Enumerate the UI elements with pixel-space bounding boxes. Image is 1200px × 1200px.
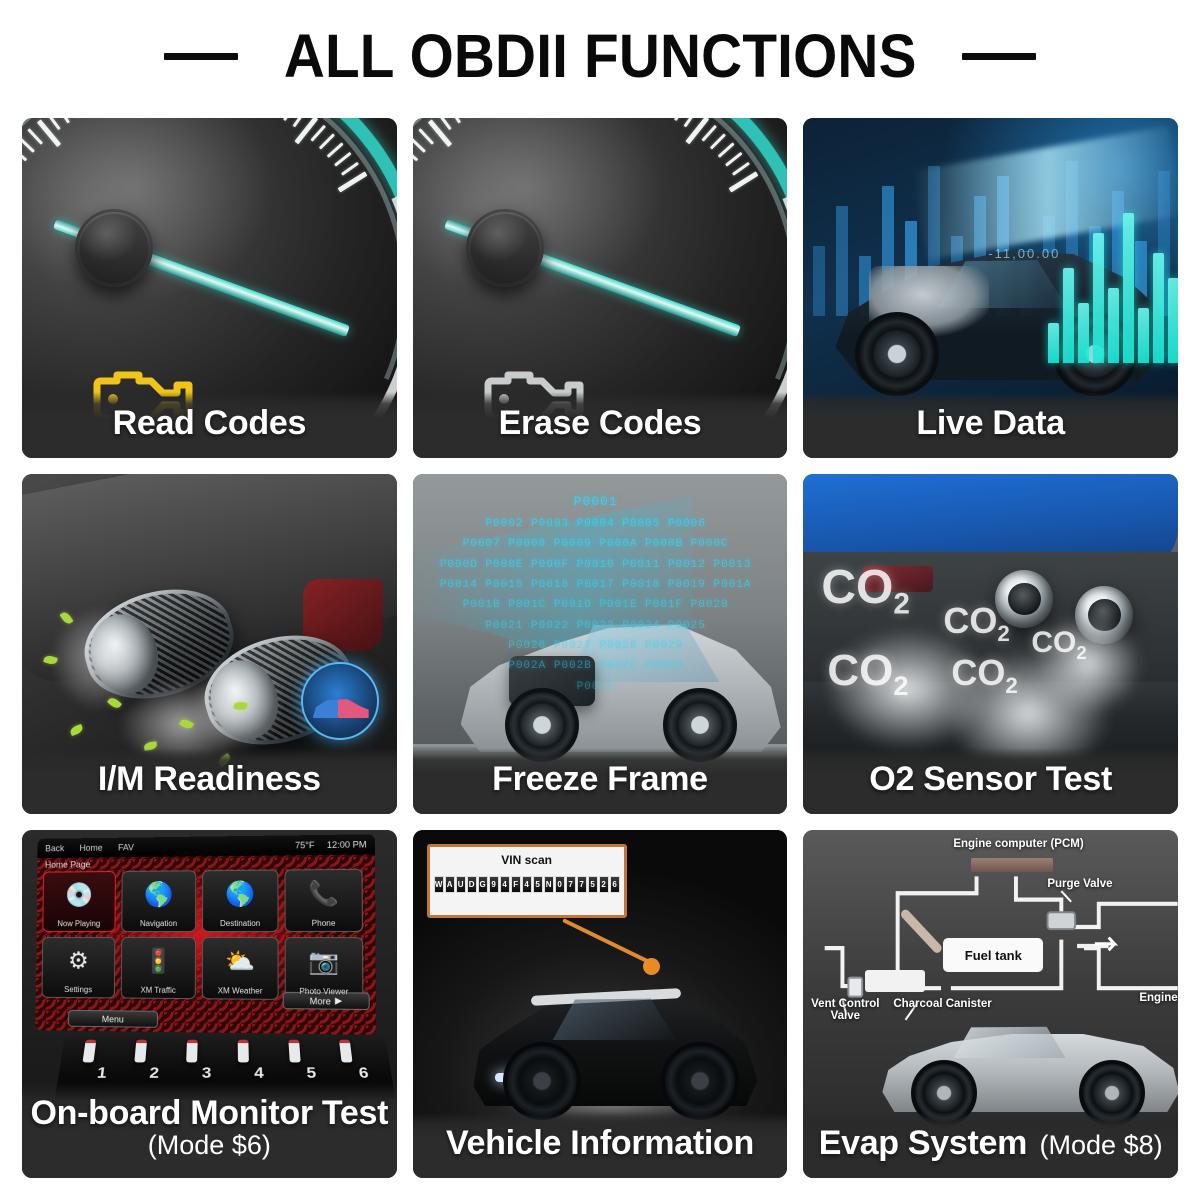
gauge-tick	[22, 146, 27, 161]
tile-label: XM Traffic	[140, 986, 175, 995]
chevron-right-icon: ▶	[335, 995, 342, 1006]
gauge-tick	[283, 118, 296, 121]
cloud-sun-icon: ⛅	[203, 943, 278, 980]
co2-overlay: CO2	[951, 652, 1017, 699]
vin-character: W	[434, 876, 444, 893]
gauge-needle	[111, 240, 350, 337]
card-label: Read Codes	[30, 406, 389, 441]
clock-readout: 12:00 PM	[327, 839, 367, 850]
preset-label-1: 1	[96, 1064, 108, 1082]
telemetry-bar	[1093, 233, 1104, 363]
preset-button-6[interactable]	[339, 1040, 353, 1063]
preset-button-3[interactable]	[186, 1040, 198, 1063]
tile-label: Navigation	[140, 919, 177, 928]
card-label: Live Data	[811, 406, 1170, 441]
head-unit-screen[interactable]: Back Home FAV 75°F 12:00 PM Home Page 💿N…	[35, 834, 376, 1035]
card-caption: Freeze Frame	[413, 748, 788, 814]
telemetry-bar	[1153, 253, 1164, 363]
gauge-tick	[319, 133, 335, 149]
gauge-tick	[413, 146, 418, 161]
wheel-rear	[661, 1042, 739, 1120]
head-unit-tile-now-playing[interactable]: 💿Now Playing	[42, 871, 116, 932]
more-label: More	[310, 996, 331, 1006]
gauge-tick	[46, 118, 60, 130]
card-label: I/M Readiness	[30, 762, 389, 797]
vin-character: 4	[522, 876, 532, 893]
head-unit-tile-destination[interactable]: 🌎Destination	[202, 870, 279, 932]
preset-label-4: 4	[254, 1064, 264, 1082]
gauge-tick	[447, 118, 460, 124]
gauge-tick	[728, 171, 758, 192]
dtc-row: P0007 P0008 P0009 P000A P000B P000C	[431, 534, 761, 554]
function-grid: 6080100120140160180200220240 Read Codes	[22, 118, 1178, 1178]
tile-label: Settings	[64, 985, 92, 994]
dtc-row: P002E	[431, 677, 761, 697]
preset-label-6: 6	[358, 1064, 370, 1082]
wheel-front	[855, 312, 939, 396]
card-caption: Evap System (Mode $8)	[803, 1112, 1178, 1178]
preset-button-1[interactable]	[82, 1040, 96, 1063]
callout-pointer	[562, 918, 654, 965]
gauge-tick	[418, 128, 434, 145]
gauge-tick	[338, 171, 368, 192]
label-engine-computer: Engine computer (PCM)	[953, 838, 1083, 850]
dtc-code-list: P0001P0002 P0003 P0004 P0005 P0006P0007 …	[431, 490, 761, 697]
co2-overlay: CO2	[821, 560, 910, 622]
card-caption: On-board Monitor Test (Mode $6)	[22, 1082, 397, 1178]
page-header: ALL OBDII FUNCTIONS	[0, 0, 1200, 112]
gauge-tick	[57, 118, 70, 124]
label-purge-valve: Purge Valve	[1047, 878, 1112, 890]
gauge-tick	[294, 118, 318, 144]
card-on-board-monitor-test[interactable]: Back Home FAV 75°F 12:00 PM Home Page 💿N…	[22, 830, 397, 1178]
head-unit-status-bar: Back Home FAV 75°F 12:00 PM	[38, 834, 375, 858]
card-label: O2 Sensor Test	[811, 762, 1170, 797]
gauge-tick	[674, 118, 687, 121]
live-overlay-value: -11,00.00	[988, 246, 1060, 261]
card-label: Erase Codes	[421, 406, 780, 441]
filler-neck	[906, 914, 938, 948]
dtc-row: P0002 P0003 P0004 P0005 P0006	[431, 514, 761, 534]
preset-label-2: 2	[149, 1064, 160, 1082]
gauge-needle-tail	[53, 219, 115, 250]
dtc-row: P000D P000E P000F P0010 P0011 P0012 P001…	[431, 555, 761, 575]
card-sublabel: (Mode $8)	[1040, 1130, 1163, 1160]
vin-character: 7	[577, 876, 587, 893]
tile-label: XM Weather	[218, 986, 263, 995]
vin-character: 4	[500, 876, 510, 893]
telemetry-bar	[1063, 268, 1074, 363]
purge-valve-body	[1048, 912, 1076, 929]
wheel-front	[503, 1042, 581, 1120]
vin-character: 5	[588, 876, 598, 893]
globe-icon: 🌎	[203, 876, 277, 912]
preset-button-4[interactable]	[238, 1040, 249, 1063]
co2-overlay: CO2	[827, 646, 908, 702]
gauge-tick	[341, 162, 359, 176]
vin-character: 7	[566, 876, 576, 893]
telemetry-bar	[1123, 213, 1134, 363]
head-unit-tile-xm-traffic[interactable]: 🚦XM Traffic	[121, 937, 196, 999]
vin-character: 9	[489, 876, 499, 893]
vin-character: N	[544, 876, 554, 893]
head-unit-menu-button[interactable]: Menu	[68, 1010, 158, 1028]
card-caption: Read Codes	[22, 392, 397, 458]
gauge-tick	[683, 118, 697, 127]
gauge-tick	[709, 133, 725, 149]
globe-icon: 🌎	[122, 876, 195, 912]
vin-character: U	[456, 876, 466, 893]
preset-label-5: 5	[306, 1064, 317, 1082]
head-unit-tile-phone[interactable]: 📞Phone	[285, 869, 363, 932]
dtc-row: P0026 P0027 P0028 P0029	[431, 636, 761, 656]
gauge-needle-tail	[444, 219, 506, 250]
gauge-tick	[725, 152, 743, 167]
tile-label: Phone	[312, 919, 336, 928]
dtc-row: P0021 P0022 P0023 P0024 P0025	[431, 616, 761, 636]
gauge-tick	[413, 137, 426, 153]
vin-character: 0	[555, 876, 565, 893]
vin-character: F	[511, 876, 521, 893]
card-caption: Erase Codes	[413, 392, 788, 458]
card-live-data[interactable]: -11,00.00 Live Data	[803, 118, 1178, 458]
vin-character: G	[478, 876, 488, 893]
card-im-readiness[interactable]: I/M Readiness	[22, 474, 397, 814]
gauge-tick	[437, 118, 451, 130]
tile-label: Now Playing	[57, 919, 100, 928]
gauge-tick	[732, 162, 750, 176]
smoke-plume	[1013, 594, 1163, 734]
card-caption: O2 Sensor Test	[803, 748, 1178, 814]
telemetry-bar	[1078, 303, 1089, 363]
pcm-module-body	[971, 858, 1053, 872]
gauge-tick	[334, 152, 352, 167]
vin-panel-title: VIN scan	[501, 853, 552, 867]
gauge-tick	[293, 118, 307, 127]
gauge-tick	[22, 137, 35, 153]
telemetry-bar	[1168, 278, 1178, 363]
page-title: ALL OBDII FUNCTIONS	[284, 21, 917, 91]
gauge-tick	[717, 142, 734, 158]
head-unit-tile-xm-weather[interactable]: ⛅XM Weather	[202, 937, 279, 1000]
preset-button-2[interactable]	[134, 1040, 147, 1063]
card-read-codes[interactable]: 6080100120140160180200220240 Read Codes	[22, 118, 397, 458]
card-caption: Vehicle Information	[413, 1112, 788, 1178]
infographic-page: ALL OBDII FUNCTIONS 60801001201401601802…	[0, 0, 1200, 1200]
preset-label-3: 3	[202, 1064, 212, 1082]
card-label: Freeze Frame	[421, 762, 780, 797]
head-unit-tile-navigation[interactable]: 🌎Navigation	[121, 870, 196, 932]
telemetry-bar	[1138, 308, 1149, 363]
nav-home[interactable]: Home	[79, 843, 102, 853]
gauge-needle	[502, 240, 741, 337]
vin-character: A	[445, 876, 455, 893]
nav-back[interactable]: Back	[45, 843, 64, 853]
telemetry-bar	[1108, 288, 1119, 363]
label-engine: Engine	[1139, 992, 1177, 1004]
callout-dot	[643, 958, 660, 975]
gauge-tick	[310, 125, 326, 142]
camera-icon: 📷	[286, 943, 363, 980]
gauge-tick	[701, 125, 717, 142]
vin-character: 6	[610, 876, 620, 893]
telemetry-bar	[1048, 323, 1059, 363]
preset-button-5[interactable]	[288, 1040, 300, 1063]
card-erase-codes[interactable]: 6080100120140160180200220240 Erase Codes	[413, 118, 788, 458]
title-rule-right	[962, 53, 1036, 60]
co2-overlay: CO2	[1031, 626, 1086, 664]
telemetry-bars	[1048, 203, 1178, 363]
tile-label: Destination	[220, 919, 260, 928]
co2-overlay: CO2	[943, 600, 1009, 647]
vin-character: 2	[599, 876, 609, 893]
temperature-readout: 75°F	[295, 840, 315, 850]
gauge-tick	[685, 118, 709, 144]
gauge-hub	[466, 209, 544, 287]
card-freeze-frame[interactable]: P0001P0002 P0003 P0004 P0005 P0006P0007 …	[413, 474, 788, 814]
vin-scan-panel: VIN scan WAUDG94F45N077526	[427, 844, 627, 918]
vin-character: 5	[533, 876, 543, 893]
gauge-tick	[427, 119, 451, 147]
dtc-row: P0014 P0015 P0016 P0017 P0018 P0019 P001…	[431, 575, 761, 595]
charcoal-canister-body	[865, 970, 925, 992]
disc-icon: 💿	[44, 877, 115, 913]
fuel-tank-body: Fuel tank	[943, 938, 1043, 972]
tile-label: Photo Viewer	[299, 987, 348, 997]
eco-badge-icon	[301, 662, 379, 740]
card-sublabel: (Mode $6)	[30, 1131, 389, 1159]
gauge-tick	[37, 119, 61, 147]
dtc-row: P0001	[431, 490, 761, 514]
traffic-light-icon: 🚦	[122, 943, 195, 979]
gauge-tick	[327, 142, 344, 158]
head-unit-page-title: Home Page	[45, 860, 90, 870]
gears-icon: ⚙	[43, 943, 115, 979]
gauge-hub	[75, 209, 153, 287]
card-label: Evap System	[819, 1124, 1027, 1162]
card-label: Vehicle Information	[421, 1126, 780, 1161]
label-vent-control-valve: Vent Control Valve	[807, 998, 883, 1022]
head-unit-tile-grid: 💿Now Playing🌎Navigation🌎Destination📞Phon…	[42, 869, 372, 1001]
nav-fav[interactable]: FAV	[118, 842, 134, 852]
phone-icon: 📞	[286, 875, 362, 912]
vin-character: D	[467, 876, 477, 893]
title-rule-left	[164, 53, 238, 60]
label-charcoal-canister: Charcoal Canister	[893, 998, 991, 1010]
card-caption: I/M Readiness	[22, 748, 397, 814]
card-vehicle-information[interactable]: VIN scan WAUDG94F45N077526 Vehicle Infor…	[413, 830, 788, 1178]
card-evap-system[interactable]: Fuel tank Engine computer (PCM) Purge Va…	[803, 830, 1178, 1178]
candlestick	[836, 206, 848, 316]
dtc-row: P002A P002B P002C P002D	[431, 656, 761, 676]
card-caption: Live Data	[803, 392, 1178, 458]
gauge-tick	[27, 128, 43, 145]
head-unit-tile-settings[interactable]: ⚙Settings	[42, 937, 116, 998]
card-o2-sensor-test[interactable]: CO2 CO2 CO2 CO2 CO2 O2 Sensor Test	[803, 474, 1178, 814]
vin-character-strip: WAUDG94F45N077526	[434, 876, 620, 893]
candlestick	[813, 246, 825, 316]
card-label: On-board Monitor Test	[30, 1096, 389, 1131]
vent-valve-body	[849, 978, 863, 997]
dtc-row: P001B P001C P001D P001E P001F P0020	[431, 595, 761, 615]
